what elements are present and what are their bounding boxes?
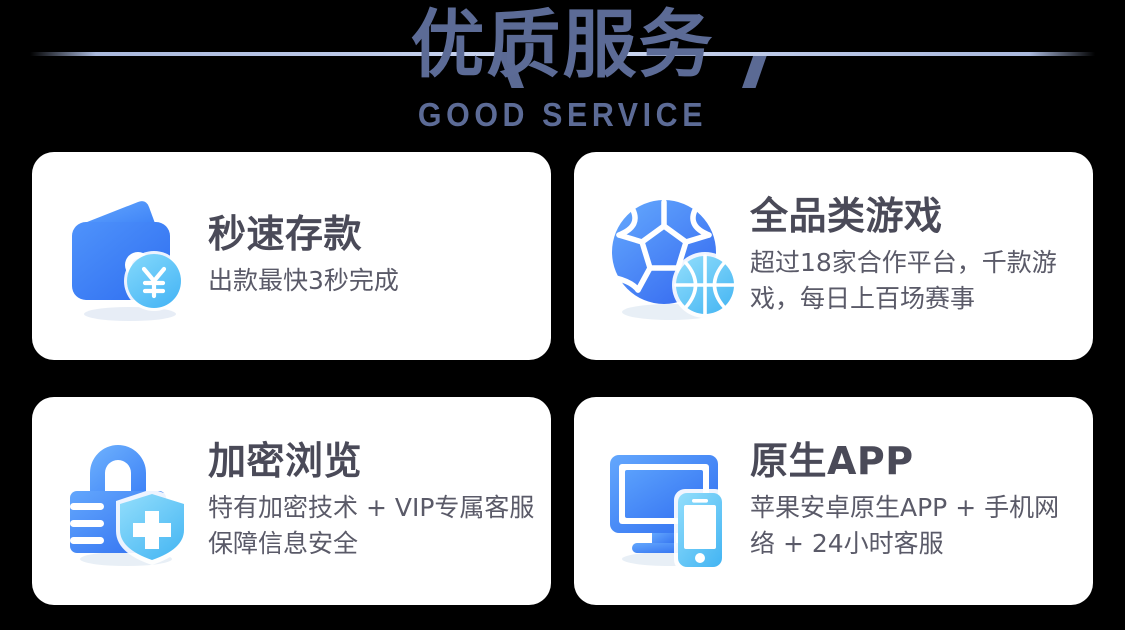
soccer-basketball-icon — [602, 186, 742, 326]
page-subtitle: GOOD SERVICE — [45, 96, 1080, 134]
wallet-yen-icon — [60, 186, 200, 326]
feature-card-text: 全品类游戏 超过18家合作平台，千款游戏，每日上百场赛事 — [742, 194, 1093, 317]
feature-title: 全品类游戏 — [750, 194, 1081, 239]
feature-title: 秒速存款 — [208, 212, 539, 257]
feature-card-games[interactable]: 全品类游戏 超过18家合作平台，千款游戏，每日上百场赛事 — [574, 152, 1093, 360]
feature-title: 加密浏览 — [208, 439, 539, 484]
feature-card-text: 加密浏览 特有加密技术 + VIP专属客服保障信息安全 — [200, 439, 551, 562]
promo-banner: 优质服务 GOOD SERVICE — [0, 0, 1125, 630]
page-title: 优质服务 — [0, 8, 1125, 83]
feature-description: 超过18家合作平台，千款游戏，每日上百场赛事 — [750, 245, 1081, 318]
feature-description: 苹果安卓原生APP + 手机网络 + 24小时客服 — [750, 490, 1081, 563]
banner-header: 优质服务 GOOD SERVICE — [0, 0, 1125, 148]
feature-card-grid: 秒速存款 出款最快3秒完成 — [32, 152, 1093, 605]
feature-title: 原生APP — [750, 439, 1081, 484]
feature-card-encryption[interactable]: 加密浏览 特有加密技术 + VIP专属客服保障信息安全 — [32, 397, 551, 605]
feature-card-text: 原生APP 苹果安卓原生APP + 手机网络 + 24小时客服 — [742, 439, 1093, 562]
feature-card-text: 秒速存款 出款最快3秒完成 — [200, 212, 551, 299]
lock-shield-icon — [60, 431, 200, 571]
feature-card-deposit[interactable]: 秒速存款 出款最快3秒完成 — [32, 152, 551, 360]
feature-description: 特有加密技术 + VIP专属客服保障信息安全 — [208, 490, 539, 563]
feature-description: 出款最快3秒完成 — [208, 263, 539, 299]
monitor-phone-icon — [602, 431, 742, 571]
feature-card-native-app[interactable]: 原生APP 苹果安卓原生APP + 手机网络 + 24小时客服 — [574, 397, 1093, 605]
